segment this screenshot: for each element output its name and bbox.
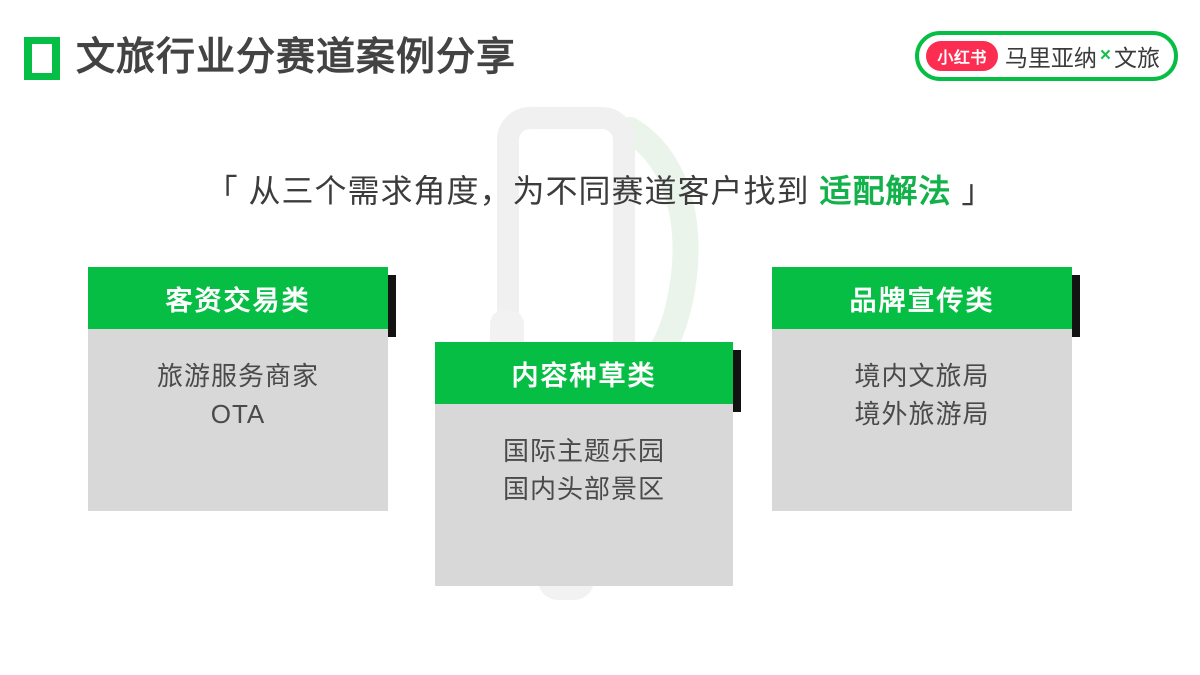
logo-cross-icon: × [1100, 45, 1111, 67]
square-outline-icon [24, 37, 60, 80]
square-outline-inner [32, 44, 52, 73]
xiaohongshu-badge: 小红书 [926, 41, 998, 71]
card-body-line: OTA [88, 395, 388, 433]
card-body-line: 国际主题乐园 [435, 432, 733, 470]
category-card: 客资交易类 旅游服务商家 OTA [88, 267, 388, 511]
logo-suffix-text: 文旅 [1114, 39, 1160, 73]
card-body-line: 旅游服务商家 [88, 357, 388, 395]
card-title: 品牌宣传类 [772, 267, 1072, 329]
card-title: 客资交易类 [88, 267, 388, 329]
card-title: 内容种草类 [435, 342, 733, 404]
card-body: 境内文旅局 境外旅游局 [772, 329, 1072, 511]
category-card: 品牌宣传类 境内文旅局 境外旅游局 [772, 267, 1072, 511]
card-body-line: 国内头部景区 [435, 470, 733, 508]
subtitle-text: 从三个需求角度，为不同赛道客户找到 [239, 173, 820, 209]
card-body-line: 境内文旅局 [772, 357, 1072, 395]
subtitle: 「 从三个需求角度，为不同赛道客户找到 适配解法 」 [0, 166, 1200, 212]
card-body: 旅游服务商家 OTA [88, 329, 388, 511]
page-title: 文旅行业分赛道案例分享 [76, 30, 516, 86]
subtitle-close-bracket: 」 [951, 173, 994, 209]
slide-canvas: 文旅行业分赛道案例分享 小红书 马里亚纳 × 文旅 「 从三个需求角度，为不同赛… [0, 0, 1200, 675]
slide-header: 文旅行业分赛道案例分享 小红书 马里亚纳 × 文旅 [0, 0, 1200, 110]
logo-partner-name: 马里亚纳 [1005, 39, 1097, 73]
subtitle-highlight: 适配解法 [819, 173, 951, 209]
card-body-line: 境外旅游局 [772, 395, 1072, 433]
brand-logo-lockup: 小红书 马里亚纳 × 文旅 [915, 31, 1178, 81]
category-card: 内容种草类 国际主题乐园 国内头部景区 [435, 342, 733, 586]
card-body: 国际主题乐园 国内头部景区 [435, 404, 733, 586]
subtitle-open-bracket: 「 [206, 173, 239, 209]
